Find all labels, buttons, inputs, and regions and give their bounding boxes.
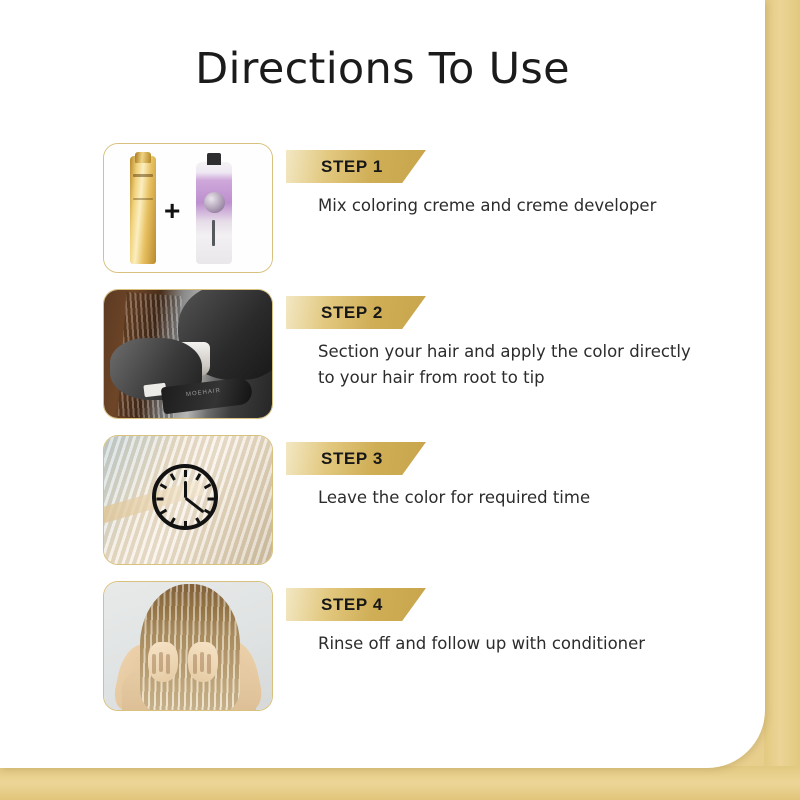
infographic-page: Directions To Use +	[0, 0, 800, 800]
step-3-banner: STEP 3	[286, 442, 426, 475]
developer-bottle-icon	[196, 162, 232, 264]
hand-icon	[148, 642, 178, 682]
list-item: STEP 3 Leave the color for required time	[103, 435, 703, 565]
step-4-image	[104, 582, 272, 710]
list-item: MOEHAIR STEP 2 Section your hair and app…	[103, 289, 703, 419]
step-1-label: STEP 1	[321, 157, 383, 177]
step-4-thumbnail	[103, 581, 273, 711]
step-1-thumbnail: +	[103, 143, 273, 273]
content-sheet: Directions To Use +	[0, 0, 765, 768]
step-2-banner: STEP 2	[286, 296, 426, 329]
step-3-label: STEP 3	[321, 449, 383, 469]
hand-icon	[188, 642, 218, 682]
list-item: STEP 4 Rinse off and follow up with cond…	[103, 581, 703, 711]
step-2-image: MOEHAIR	[104, 290, 272, 418]
steps-list: + STEP 1 Mix coloring creme and creme de…	[103, 143, 703, 727]
step-1-description: Mix coloring creme and creme developer	[318, 193, 708, 219]
step-2-description: Section your hair and apply the color di…	[318, 339, 708, 391]
coloring-creme-tube-icon	[130, 156, 156, 264]
page-title: Directions To Use	[0, 44, 765, 94]
step-1-image: +	[104, 144, 272, 272]
step-4-description: Rinse off and follow up with conditioner	[318, 631, 708, 657]
step-4-banner: STEP 4	[286, 588, 426, 621]
step-1-banner: STEP 1	[286, 150, 426, 183]
step-2-label: STEP 2	[321, 303, 383, 323]
list-item: + STEP 1 Mix coloring creme and creme de…	[103, 143, 703, 273]
step-3-image	[104, 436, 272, 564]
step-4-label: STEP 4	[321, 595, 383, 615]
step-3-thumbnail	[103, 435, 273, 565]
clock-icon	[152, 464, 218, 530]
gold-border-right	[764, 0, 800, 800]
plus-icon: +	[164, 197, 180, 225]
step-2-thumbnail: MOEHAIR	[103, 289, 273, 419]
gold-border-bottom	[0, 766, 800, 800]
step-3-description: Leave the color for required time	[318, 485, 708, 511]
